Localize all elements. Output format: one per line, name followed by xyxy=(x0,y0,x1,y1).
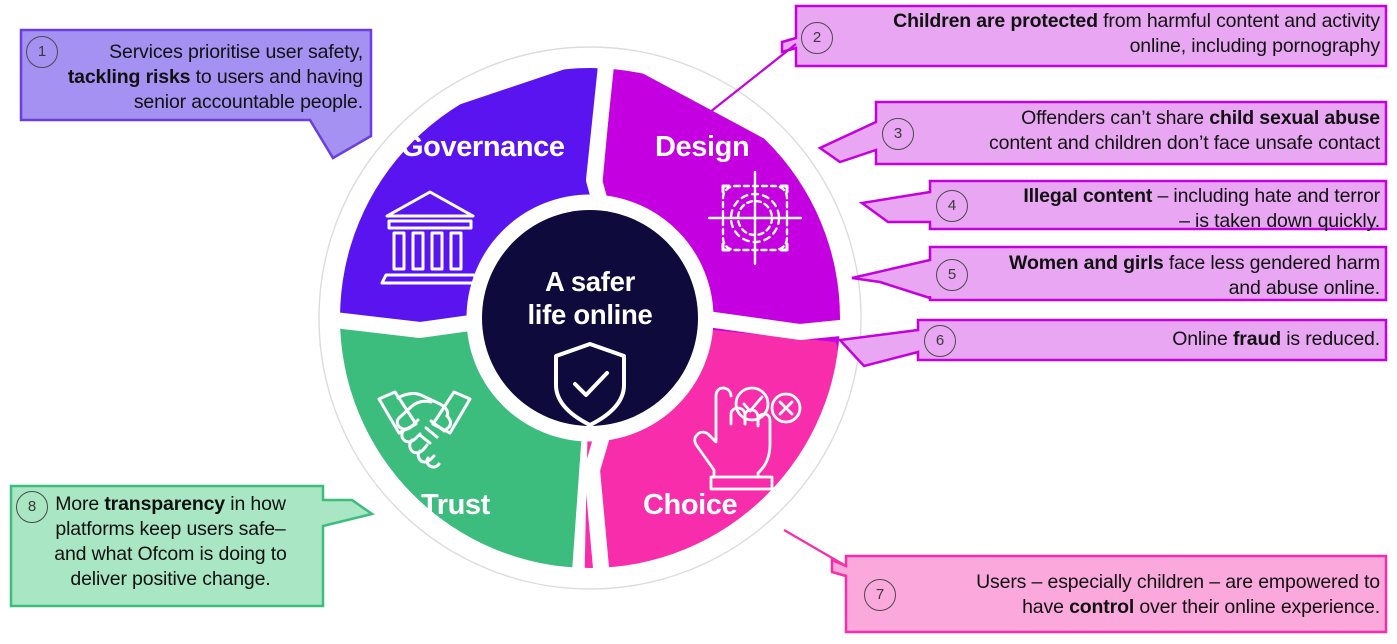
callout-text-8: More transparency in howplatforms keep u… xyxy=(28,492,313,592)
hub-title: A safer life online xyxy=(470,265,710,331)
callout-text-6: Online fraud is reduced. xyxy=(950,327,1380,352)
callout-text-7: Users – especially children – are empowe… xyxy=(900,570,1380,620)
segment-label-choice: Choice xyxy=(643,489,737,522)
callout-text-4: Illegal content – including hate and ter… xyxy=(950,184,1380,234)
segment-label-design: Design xyxy=(655,131,749,164)
design-artboard-crosshair-icon xyxy=(709,172,801,264)
callout-text-1: Services prioritise user safety,tackling… xyxy=(60,40,363,115)
callout-text-3: Offenders can’t share child sexual abuse… xyxy=(900,106,1380,156)
segment-label-governance: Governance xyxy=(401,131,565,164)
callout-number-7: 7 xyxy=(864,579,896,611)
callout-text-5: Women and girls face less gendered harma… xyxy=(950,251,1380,301)
callout-text-2: Children are protected from harmful cont… xyxy=(820,9,1380,59)
diagram-canvas: Governance Design Choice Trust A safer l… xyxy=(0,0,1397,644)
segment-label-trust: Trust xyxy=(421,489,490,522)
callout-number-1: 1 xyxy=(26,36,58,68)
